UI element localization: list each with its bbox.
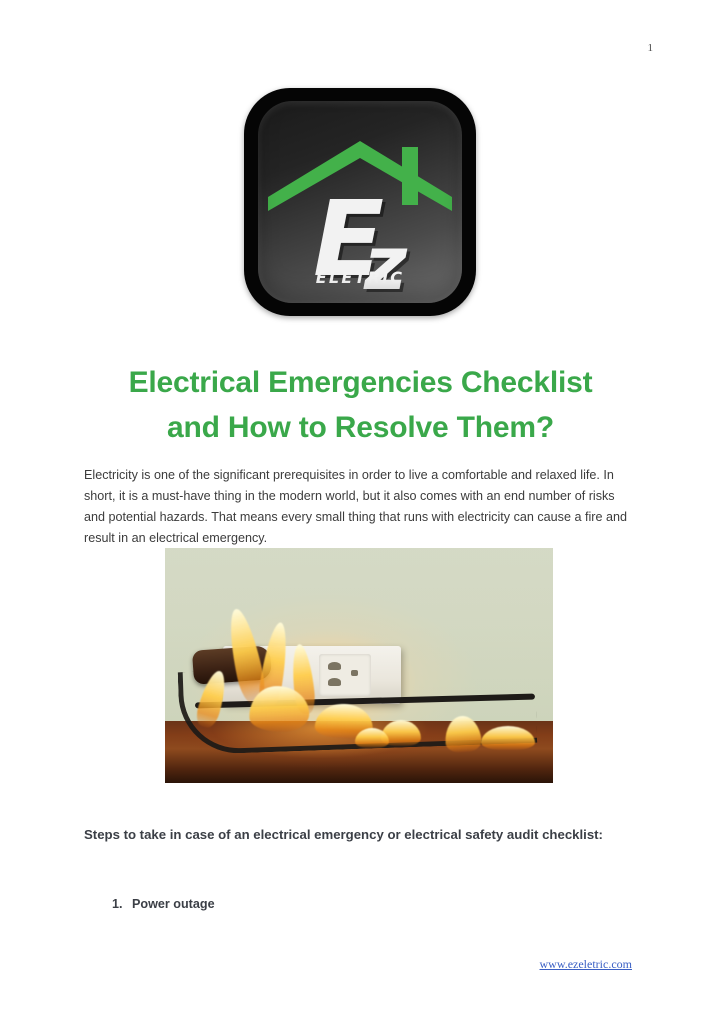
- footer-website-link[interactable]: www.ezeletric.com: [0, 957, 632, 972]
- page-title: Electrical Emergencies Checklist and How…: [88, 360, 633, 450]
- list-item: Power outage: [126, 894, 675, 914]
- steps-list: Power outage: [84, 894, 675, 914]
- page-title-line-1: Electrical Emergencies Checklist: [129, 366, 593, 399]
- steps-heading: Steps to take in case of an electrical e…: [84, 818, 633, 852]
- logo-subtitle: ELETRIC: [258, 268, 462, 287]
- electrical-fire-photo: [165, 548, 553, 783]
- photo-flame: [355, 728, 389, 748]
- logo-letter-z: z: [364, 221, 407, 303]
- ez-eletric-logo: Ez ELETRIC: [244, 88, 476, 316]
- logo-container: Ez ELETRIC: [0, 88, 720, 316]
- intro-paragraph: Electricity is one of the significant pr…: [84, 465, 633, 549]
- page-title-line-2: and How to Resolve Them?: [167, 411, 554, 444]
- logo-inner-panel: Ez ELETRIC: [258, 101, 462, 303]
- page-number: 1: [0, 42, 653, 54]
